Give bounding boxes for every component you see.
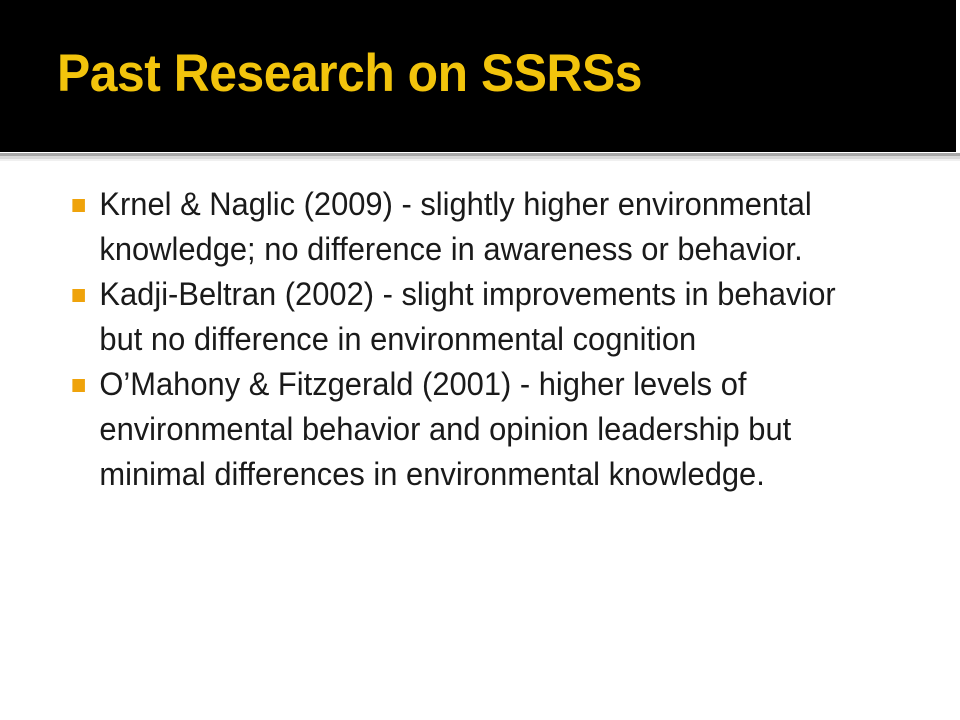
list-item: Kadji-Beltran (2002) - slight improvemen…	[0, 272, 926, 362]
slide-title: Past Research on SSRSs	[57, 44, 642, 104]
list-item-text: Krnel & Naglic (2009) - slightly higher …	[99, 182, 868, 272]
slide-body: Krnel & Naglic (2009) - slightly higher …	[0, 182, 960, 497]
list-item-text: Kadji-Beltran (2002) - slight improvemen…	[99, 272, 868, 362]
banner-divider-faint	[0, 159, 960, 161]
bullet-list: Krnel & Naglic (2009) - slightly higher …	[0, 182, 960, 497]
list-item-text: O’Mahony & Fitzgerald (2001) - higher le…	[99, 362, 868, 497]
square-bullet-icon	[72, 379, 85, 392]
square-bullet-icon	[72, 199, 85, 212]
list-item: O’Mahony & Fitzgerald (2001) - higher le…	[0, 362, 926, 497]
presentation-slide: Past Research on SSRSs Krnel & Naglic (2…	[0, 0, 960, 720]
list-item: Krnel & Naglic (2009) - slightly higher …	[0, 182, 926, 272]
title-banner: Past Research on SSRSs	[0, 0, 956, 152]
square-bullet-icon	[72, 289, 85, 302]
